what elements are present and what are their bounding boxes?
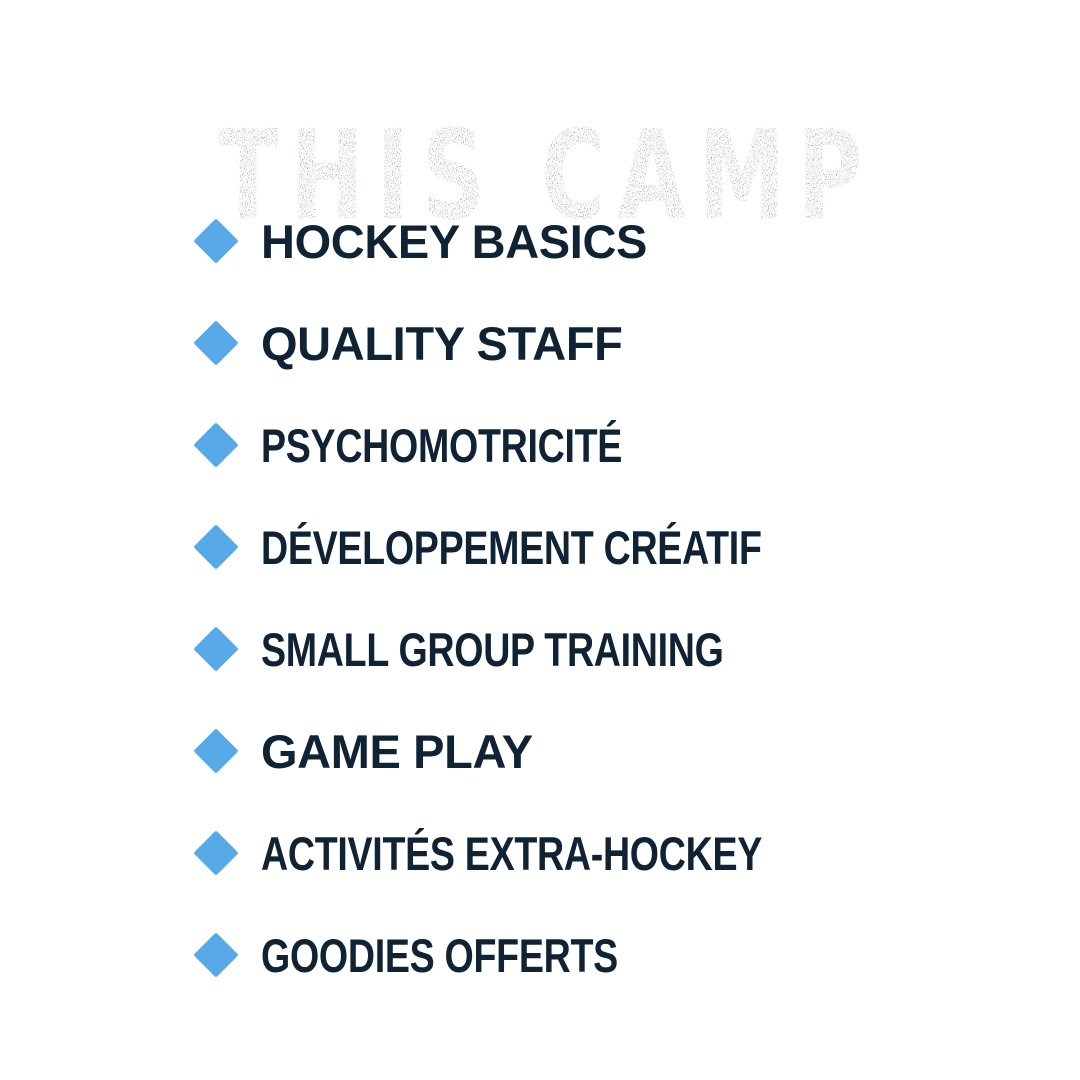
list-item: DÉVELOPPEMENT CRÉATIF bbox=[0, 496, 1080, 598]
list-item-label: GOODIES OFFERTS bbox=[261, 932, 618, 979]
list-item-label: SMALL GROUP TRAINING bbox=[261, 626, 724, 673]
list-item-label: HOCKEY BASICS bbox=[261, 218, 647, 265]
list-item: GOODIES OFFERTS bbox=[0, 904, 1080, 1006]
list-item: GAME PLAY bbox=[0, 700, 1080, 802]
list-item-label: GAME PLAY bbox=[261, 728, 533, 775]
list-item-label: PSYCHOMOTRICITÉ bbox=[261, 422, 622, 469]
diamond-icon bbox=[193, 932, 238, 977]
list-item: QUALITY STAFF bbox=[0, 292, 1080, 394]
list-item-label: ACTIVITÉS EXTRA-HOCKEY bbox=[261, 830, 762, 877]
poster-canvas: THIS CAMP HOCKEY BASICS QUALITY STAFF PS… bbox=[0, 0, 1080, 1080]
list-item: PSYCHOMOTRICITÉ bbox=[0, 394, 1080, 496]
diamond-icon bbox=[193, 320, 238, 365]
list-item-label: DÉVELOPPEMENT CRÉATIF bbox=[261, 524, 762, 571]
diamond-icon bbox=[193, 422, 238, 467]
diamond-icon bbox=[193, 524, 238, 569]
list-item: SMALL GROUP TRAINING bbox=[0, 598, 1080, 700]
list-item: HOCKEY BASICS bbox=[0, 190, 1080, 292]
list-item-label: QUALITY STAFF bbox=[261, 320, 623, 367]
list-item: ACTIVITÉS EXTRA-HOCKEY bbox=[0, 802, 1080, 904]
diamond-icon bbox=[193, 626, 238, 671]
diamond-icon bbox=[193, 728, 238, 773]
diamond-icon bbox=[193, 218, 238, 263]
feature-list: HOCKEY BASICS QUALITY STAFF PSYCHOMOTRIC… bbox=[0, 190, 1080, 1006]
diamond-icon bbox=[193, 830, 238, 875]
